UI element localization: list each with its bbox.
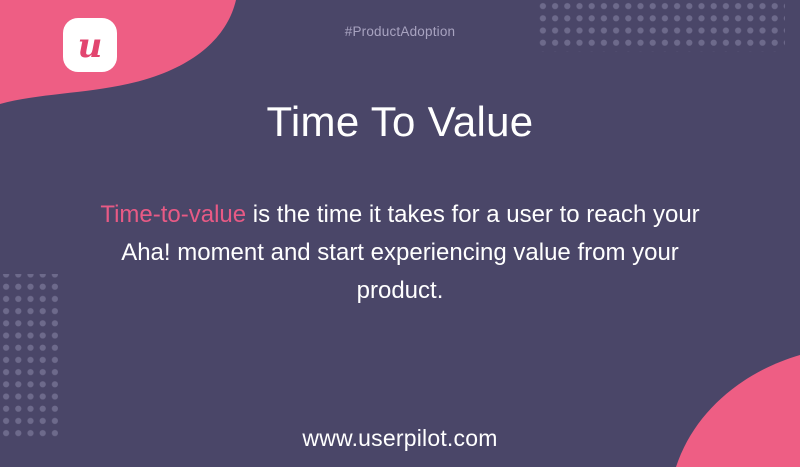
footer-website-url[interactable]: www.userpilot.com	[0, 425, 800, 452]
definition-text: Time-to-value is the time it takes for a…	[100, 196, 700, 310]
page-title: Time To Value	[0, 98, 800, 146]
definition-highlight: Time-to-value	[100, 201, 246, 228]
hashtag-label: #ProductAdoption	[0, 24, 800, 39]
slide-canvas: u #ProductAdoption Time To Value Time-to…	[0, 0, 800, 467]
dot-grid-left	[0, 270, 68, 445]
